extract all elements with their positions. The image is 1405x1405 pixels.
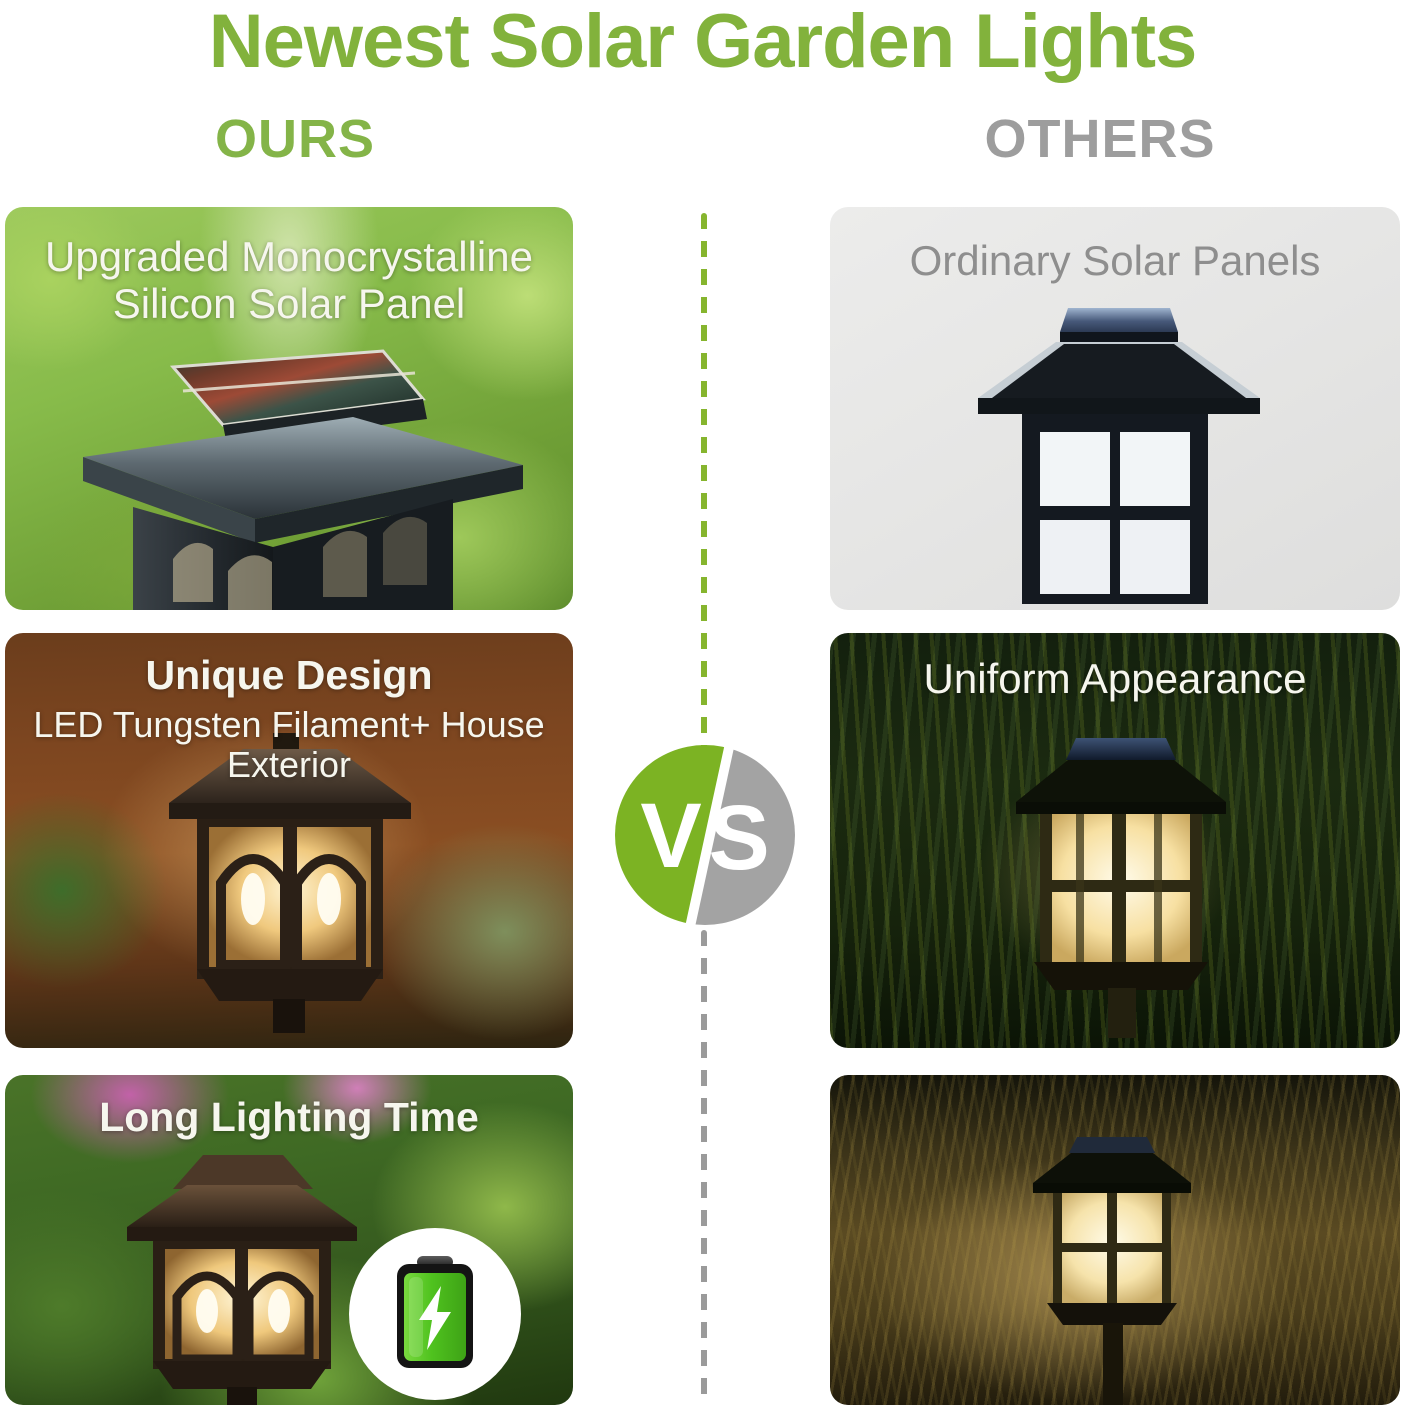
battery-charging-icon [387, 1256, 483, 1372]
grid-window-lantern-unlit-art [960, 302, 1270, 610]
versus-badge: V S [613, 743, 797, 927]
arched-window-lantern-lit-art-2 [117, 1155, 367, 1405]
column-label-others: OTHERS [950, 112, 1250, 166]
panel-others-night-lawn[interactable] [830, 1075, 1400, 1405]
vs-letter-v: V [640, 785, 701, 887]
divider-dashed-gray [701, 930, 707, 1400]
column-label-ours: OURS [150, 112, 440, 166]
battery-badge [349, 1228, 521, 1400]
panel-others-ordinary-panel[interactable]: Ordinary Solar Panels [830, 207, 1400, 610]
solar-panel-closeup-art [23, 347, 558, 610]
grid-window-lantern-lit-small-art [1015, 1137, 1215, 1405]
page-title: Newest Solar Garden Lights [0, 2, 1405, 82]
grid-window-lantern-lit-art [1000, 738, 1240, 1038]
panel-ours-unique-design[interactable]: Unique Design LED Tungsten Filament+ Hou… [5, 633, 573, 1048]
panel-ours-solar-panel[interactable]: Upgraded Monocrystalline Silicon Solar P… [5, 207, 573, 610]
vs-letter-s: S [708, 787, 769, 889]
arched-window-lantern-lit-art [155, 733, 425, 1033]
panel-others-uniform-appearance[interactable]: Uniform Appearance [830, 633, 1400, 1048]
divider-dashed-green [701, 213, 707, 765]
